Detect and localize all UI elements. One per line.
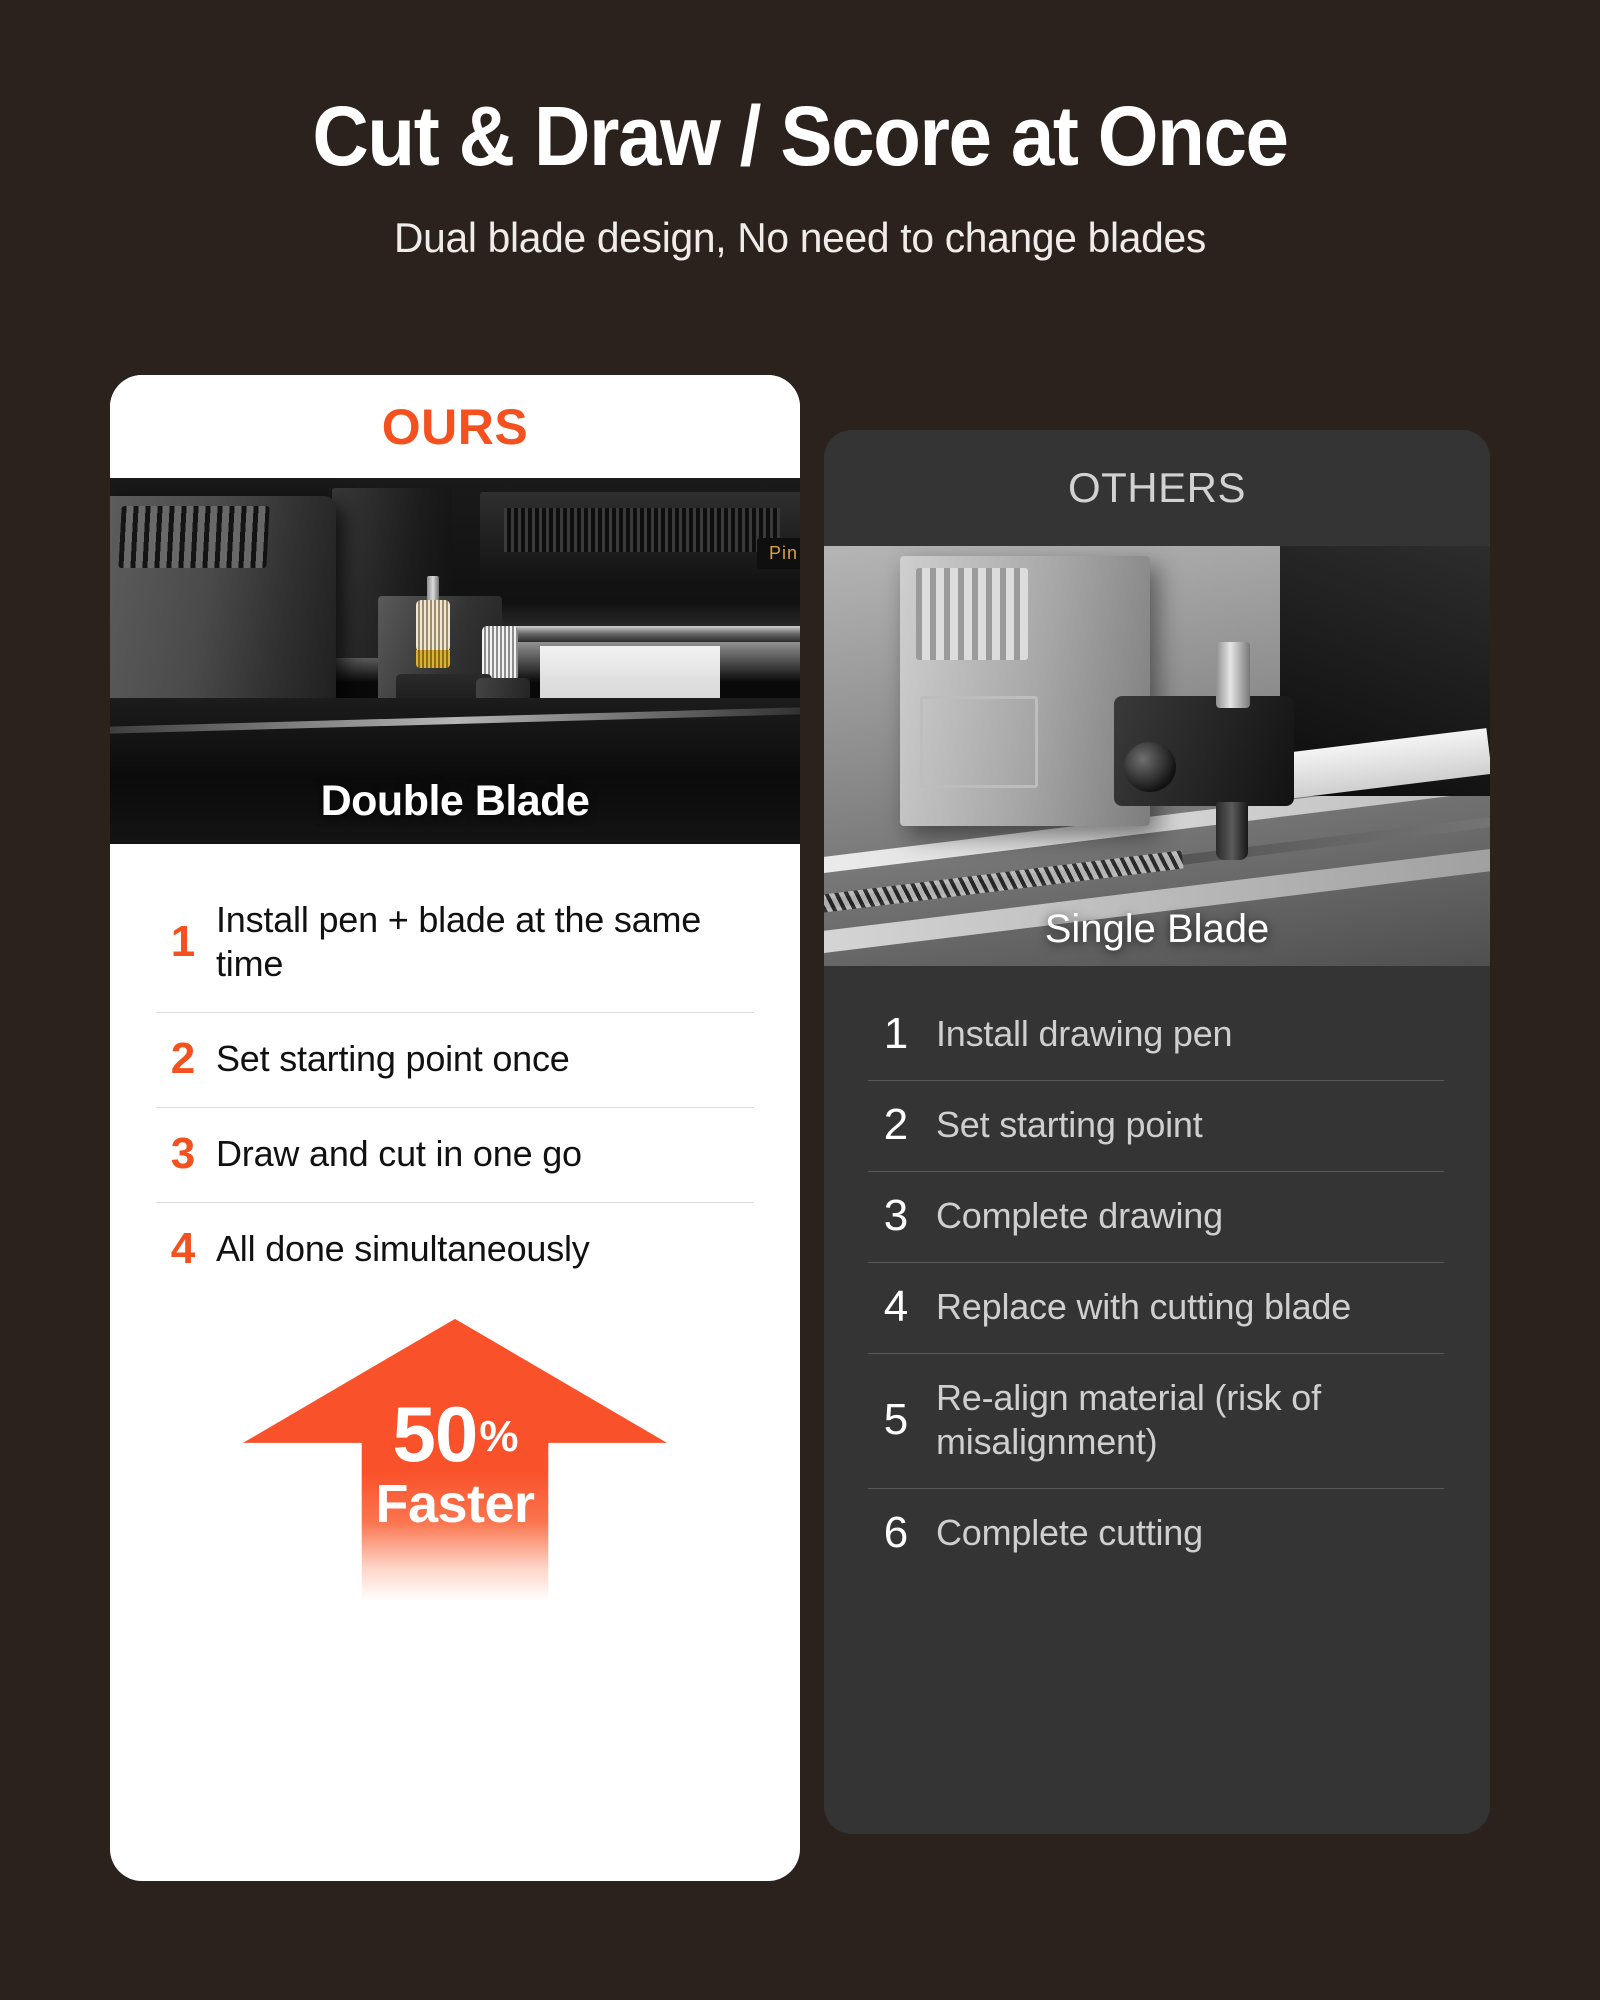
step-number: 5 <box>868 1398 924 1442</box>
step-text: Install pen + blade at the same time <box>210 898 754 986</box>
faster-badge-text: 50% Faster <box>156 1397 754 1533</box>
ours-card-header: OURS <box>110 375 800 478</box>
list-item: 6 Complete cutting <box>868 1489 1444 1579</box>
ours-card: OURS Pin <box>110 375 800 1881</box>
step-text: All done simultaneously <box>210 1227 754 1271</box>
step-text: Replace with cutting blade <box>924 1285 1444 1329</box>
step-text: Set starting point once <box>210 1037 754 1081</box>
ours-step-list: 1 Install pen + blade at the same time 2… <box>110 844 800 1601</box>
badge-value: 50 <box>393 1390 478 1478</box>
step-text: Draw and cut in one go <box>210 1132 754 1176</box>
step-number: 2 <box>156 1037 210 1081</box>
list-item: 1 Install pen + blade at the same time <box>156 874 754 1012</box>
others-card-header: OTHERS <box>824 430 1490 546</box>
step-text: Re-align material (risk of misalignment) <box>924 1376 1444 1464</box>
list-item: 4 Replace with cutting blade <box>868 1263 1444 1353</box>
list-item: 3 Complete drawing <box>868 1172 1444 1262</box>
list-item: 4 All done simultaneously <box>156 1203 754 1297</box>
ours-photo-caption: Double Blade <box>110 777 800 826</box>
step-number: 3 <box>868 1194 924 1238</box>
list-item: 3 Draw and cut in one go <box>156 1108 754 1202</box>
badge-percent-sign: % <box>479 1412 517 1461</box>
others-step-list: 1 Install drawing pen 2 Set starting poi… <box>824 966 1490 1579</box>
step-text: Set starting point <box>924 1103 1444 1147</box>
comparison-stage: OTHERS Single Blade <box>0 0 1600 2000</box>
step-text: Complete cutting <box>924 1511 1444 1555</box>
others-machine-photo: Single Blade <box>824 546 1490 966</box>
list-item: 1 Install drawing pen <box>868 990 1444 1080</box>
step-number: 6 <box>868 1511 924 1555</box>
single-blade-machine-illustration <box>824 546 1490 966</box>
step-number: 2 <box>868 1103 924 1147</box>
step-text: Complete drawing <box>924 1194 1444 1238</box>
ours-machine-photo: Pin Double Blade <box>110 478 800 844</box>
faster-badge: 50% Faster <box>156 1319 754 1601</box>
others-photo-caption: Single Blade <box>824 907 1490 952</box>
others-card: OTHERS Single Blade <box>824 430 1490 1834</box>
step-number: 1 <box>156 920 210 964</box>
badge-label: Faster <box>156 1476 754 1533</box>
others-heading: OTHERS <box>1068 464 1246 512</box>
list-item: 2 Set starting point <box>868 1081 1444 1171</box>
list-item: 2 Set starting point once <box>156 1013 754 1107</box>
step-number: 4 <box>868 1285 924 1329</box>
machine-brand-label: Pin <box>757 538 800 569</box>
ours-heading: OURS <box>382 398 528 456</box>
step-number: 3 <box>156 1132 210 1176</box>
step-number: 4 <box>156 1227 210 1271</box>
list-item: 5 Re-align material (risk of misalignmen… <box>868 1354 1444 1488</box>
step-text: Install drawing pen <box>924 1012 1444 1056</box>
step-number: 1 <box>868 1012 924 1056</box>
